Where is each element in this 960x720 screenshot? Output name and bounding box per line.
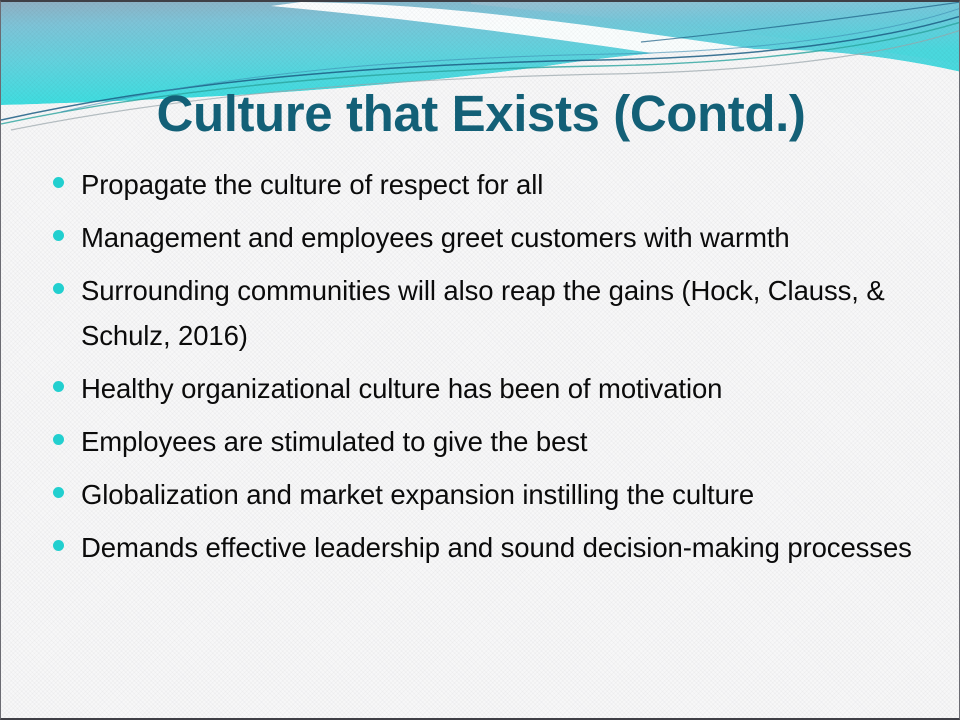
list-item-label: Demands effective leadership and sound d… xyxy=(81,525,933,570)
list-item-label: Surrounding communities will also reap t… xyxy=(81,268,933,358)
list-item-label: Employees are stimulated to give the bes… xyxy=(81,419,933,464)
bullet-dot-icon xyxy=(53,540,64,551)
list-item: Demands effective leadership and sound d… xyxy=(53,525,933,570)
bullet-dot-icon xyxy=(53,487,64,498)
list-item: Healthy organizational culture has been … xyxy=(53,366,933,411)
bullet-dot-icon xyxy=(53,230,64,241)
list-item-label: Globalization and market expansion insti… xyxy=(81,472,933,517)
list-item: Globalization and market expansion insti… xyxy=(53,472,933,517)
presentation-slide: Culture that Exists (Contd.) Propagate t… xyxy=(0,0,960,720)
list-item: Employees are stimulated to give the bes… xyxy=(53,419,933,464)
list-item: Surrounding communities will also reap t… xyxy=(53,268,933,358)
bullet-dot-icon xyxy=(53,434,64,445)
list-item: Propagate the culture of respect for all xyxy=(53,162,933,207)
bullet-dot-icon xyxy=(53,283,64,294)
slide-title: Culture that Exists (Contd.) xyxy=(1,84,960,143)
bullet-dot-icon xyxy=(53,381,64,392)
list-item-label: Healthy organizational culture has been … xyxy=(81,366,933,411)
bullet-list: Propagate the culture of respect for all… xyxy=(53,162,933,578)
list-item: Management and employees greet customers… xyxy=(53,215,933,260)
list-item-label: Management and employees greet customers… xyxy=(81,215,933,260)
bullet-dot-icon xyxy=(53,177,64,188)
list-item-label: Propagate the culture of respect for all xyxy=(81,162,933,207)
